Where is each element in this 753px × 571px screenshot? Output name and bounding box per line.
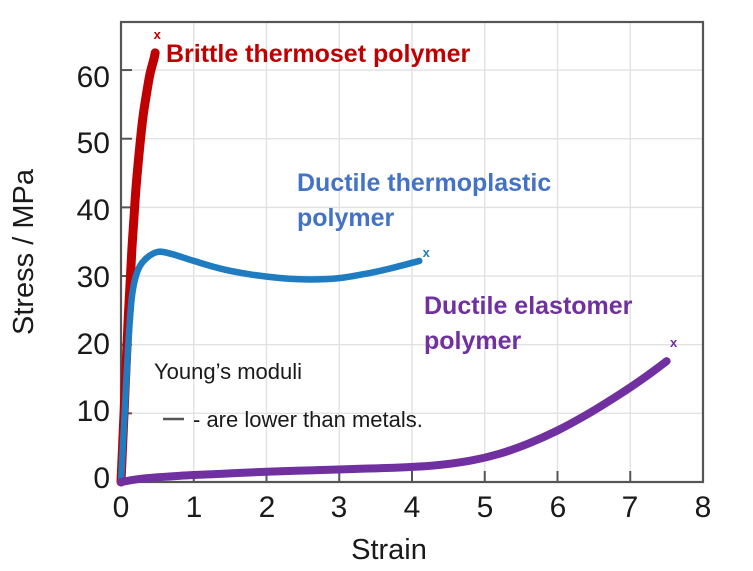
x-tick-label-2: 2 <box>259 491 276 524</box>
x-tick-label-1: 1 <box>186 491 203 524</box>
x-tick-label-3: 3 <box>331 491 348 524</box>
y-tick-label-60: 60 <box>77 61 110 94</box>
youngs-moduli-note-line2: - are lower than metals. <box>193 407 423 432</box>
brittle-thermoset-label: Brittle thermoset polymer <box>166 40 471 68</box>
ductile-thermoplastic-label-line1: Ductile thermoplastic <box>297 169 551 197</box>
chart-svg: x x x 0 10 20 30 40 50 60 0 1 2 3 4 5 6 … <box>0 0 753 571</box>
thermoplastic-failure-marker-icon: x <box>423 245 431 260</box>
ductile-thermoplastic-label-line2: polymer <box>297 204 395 232</box>
chart-background <box>0 0 753 571</box>
y-tick-label-0: 0 <box>93 462 110 495</box>
ductile-elastomer-label-line2: polymer <box>424 327 522 355</box>
stress-strain-chart: x x x 0 10 20 30 40 50 60 0 1 2 3 4 5 6 … <box>0 0 753 571</box>
y-tick-label-50: 50 <box>77 127 110 160</box>
x-tick-label-0: 0 <box>113 491 130 524</box>
y-tick-label-10: 10 <box>77 395 110 428</box>
elastomer-failure-marker-icon: x <box>670 335 678 350</box>
ductile-elastomer-label-line1: Ductile elastomer <box>424 292 633 320</box>
x-tick-label-6: 6 <box>550 491 567 524</box>
y-tick-label-20: 20 <box>77 328 110 361</box>
x-tick-label-4: 4 <box>404 491 421 524</box>
x-tick-label-5: 5 <box>477 491 494 524</box>
x-tick-label-8: 8 <box>695 491 712 524</box>
x-axis-title: Strain <box>351 534 427 566</box>
y-tick-label-30: 30 <box>77 261 110 294</box>
x-tick-label-7: 7 <box>622 491 639 524</box>
y-axis-title: Stress / MPa <box>8 168 40 335</box>
brittle-failure-marker-icon: x <box>154 27 162 42</box>
youngs-moduli-note-line1: Young’s moduli <box>154 359 302 384</box>
y-tick-label-40: 40 <box>77 194 110 227</box>
